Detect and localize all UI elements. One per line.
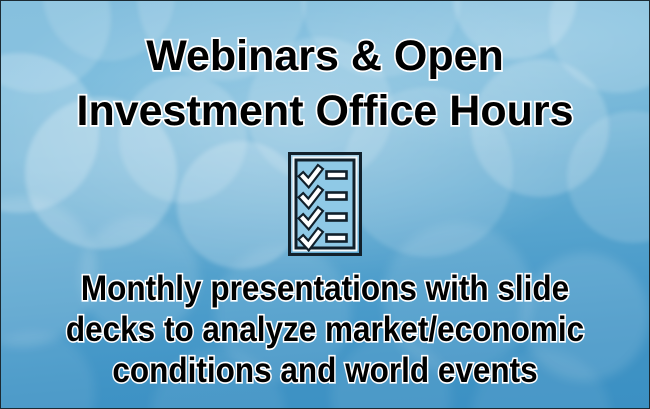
subtitle-line-3: conditions and world events (33, 350, 616, 391)
headline-line-1: Webinars & Open (77, 29, 574, 84)
headline-block: Webinars & Open Investment Office Hours (77, 29, 574, 139)
subtitle-line-2: decks to analyze market/economic (33, 309, 616, 350)
headline-line-2: Investment Office Hours (77, 84, 574, 139)
webinars-promo-banner: Webinars & Open Investment Office Hours (0, 0, 650, 409)
banner-content: Webinars & Open Investment Office Hours (1, 1, 649, 408)
banner-headline: Webinars & Open Investment Office Hours (77, 29, 574, 139)
checklist-clipboard-icon (288, 152, 362, 256)
subtitle-line-1: Monthly presentations with slide (33, 268, 616, 309)
banner-subtitle: Monthly presentations with slide decks t… (33, 268, 616, 391)
